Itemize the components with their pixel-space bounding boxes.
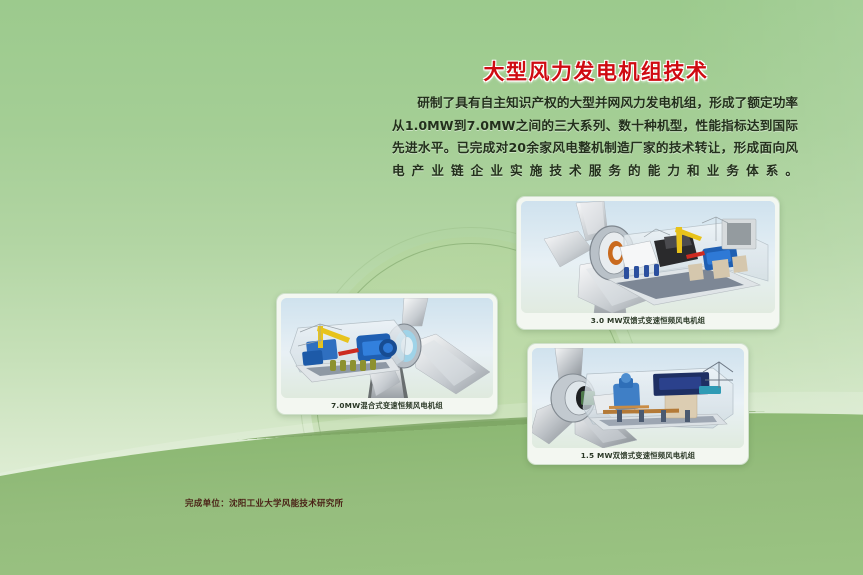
photo-card-7mw[interactable]: 7.0MW混合式变速恒频风电机组 [276, 293, 498, 415]
photo-image-15mw [532, 348, 744, 448]
body-paragraph: 研制了具有自主知识产权的大型并网风力发电机组，形成了额定功率从1.0MW到7.0… [392, 92, 798, 182]
page-title: 大型风力发电机组技术 [396, 56, 796, 86]
footer-institution: 完成单位：沈阳工业大学风能技术研究所 [185, 497, 343, 509]
presentation-slide: 大型风力发电机组技术 研制了具有自主知识产权的大型并网风力发电机组，形成了额定功… [0, 0, 863, 575]
photo-card-3mw[interactable]: 3.0 MW双馈式变速恒频风电机组 [516, 196, 780, 330]
photo-caption-15mw: 1.5 MW双馈式变速恒频风电机组 [532, 448, 744, 464]
photo-caption-3mw: 3.0 MW双馈式变速恒频风电机组 [521, 313, 775, 329]
photo-caption-7mw: 7.0MW混合式变速恒频风电机组 [281, 398, 493, 414]
photo-card-15mw[interactable]: 1.5 MW双馈式变速恒频风电机组 [527, 343, 749, 465]
photo-image-7mw [281, 298, 493, 398]
photo-image-3mw [521, 201, 775, 313]
